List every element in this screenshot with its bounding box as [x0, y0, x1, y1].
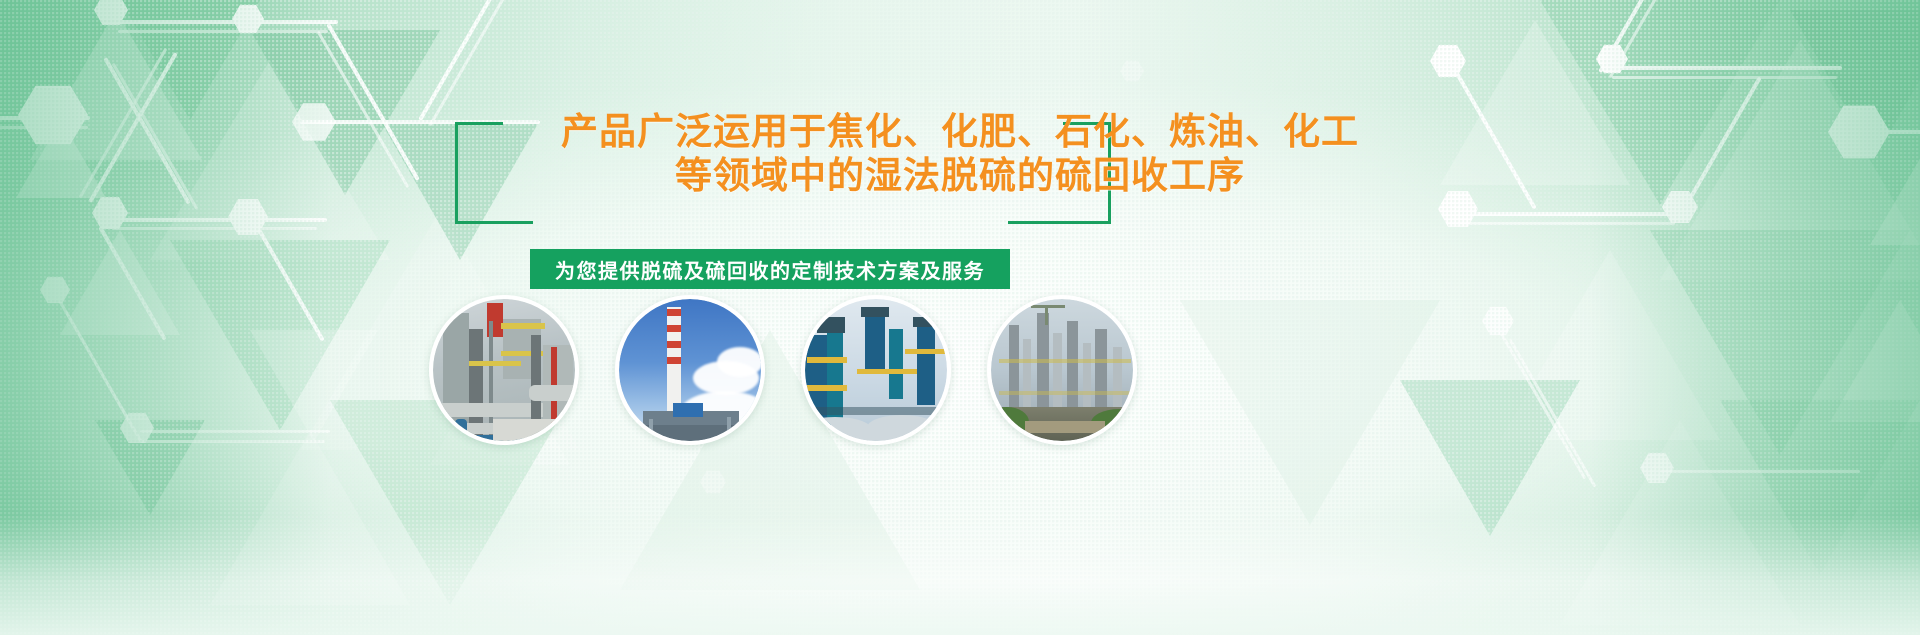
photo-refinery-tanks[interactable] [801, 295, 951, 445]
hero-banner: 产品广泛运用于焦化、化肥、石化、炼油、化工 等领域中的湿法脱硫的硫回收工序 为您… [0, 0, 1920, 635]
subtitle-ribbon: 为您提供脱硫及硫回收的定制技术方案及服务 [530, 249, 1010, 289]
headline-line-2: 等领域中的湿法脱硫的硫回收工序 [0, 154, 1920, 198]
page-title: 产品广泛运用于焦化、化肥、石化、炼油、化工 等领域中的湿法脱硫的硫回收工序 [0, 110, 1920, 198]
photo-desulfurization-piping[interactable] [429, 295, 579, 445]
photo-strip [0, 295, 1920, 445]
headline-line-1: 产品广泛运用于焦化、化肥、石化、炼油、化工 [561, 111, 1359, 152]
copy-block: 产品广泛运用于焦化、化肥、石化、炼油、化工 等领域中的湿法脱硫的硫回收工序 为您… [0, 104, 1920, 294]
photo-refinery-towers[interactable] [987, 295, 1137, 445]
photo-chimney-stack[interactable] [615, 295, 765, 445]
bracket-bottom-right [1008, 221, 1111, 224]
bracket-bottom-left [455, 221, 533, 224]
subtitle-text: 为您提供脱硫及硫回收的定制技术方案及服务 [555, 255, 985, 284]
